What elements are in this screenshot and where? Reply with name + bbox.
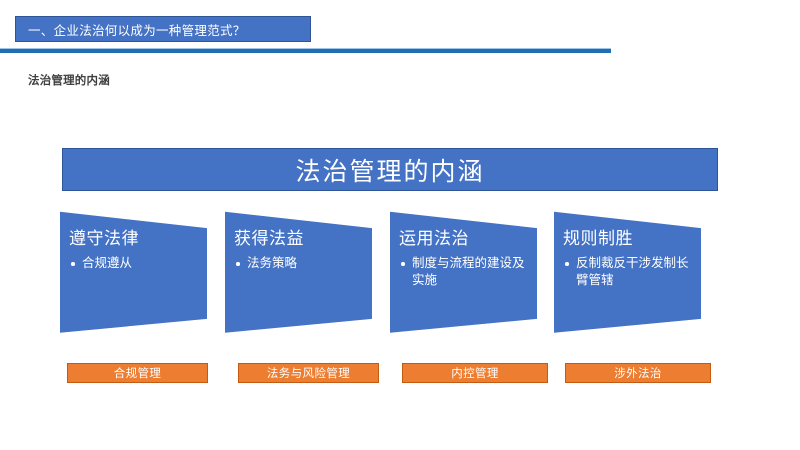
panel-heading: 遵守法律 <box>69 224 197 249</box>
header-divider-rule <box>0 48 611 53</box>
panel-content: 运用法治 制度与流程的建设及实施 <box>399 224 527 291</box>
slide-canvas: 一、企业法治何以成为一种管理范式？ 法治管理的内涵 法治管理的内涵 遵守法律 合… <box>0 0 800 450</box>
panel-content: 遵守法律 合规遵从 <box>69 224 197 274</box>
panel-compliance[interactable]: 遵守法律 合规遵从 <box>57 208 207 334</box>
panel-bullet-list: 合规遵从 <box>69 255 197 272</box>
chip-legal-risk-management[interactable]: 法务与风险管理 <box>238 363 379 383</box>
slide-subtitle: 法治管理的内涵 <box>28 72 110 88</box>
panel-content: 获得法益 法务策略 <box>234 224 362 274</box>
list-item: 制度与流程的建设及实施 <box>399 255 527 289</box>
panel-legal-benefit[interactable]: 获得法益 法务策略 <box>222 208 372 334</box>
panel-bullet-list: 法务策略 <box>234 255 362 272</box>
diagram-banner: 法治管理的内涵 <box>62 148 718 191</box>
list-item: 法务策略 <box>234 255 362 272</box>
panel-heading: 获得法益 <box>234 224 362 249</box>
panel-heading: 运用法治 <box>399 224 527 249</box>
panel-bullet-list: 反制裁反干涉发制长臂管辖 <box>563 255 691 289</box>
list-item: 合规遵从 <box>69 255 197 272</box>
panel-content: 规则制胜 反制裁反干涉发制长臂管辖 <box>563 224 691 291</box>
chip-internal-control-management[interactable]: 内控管理 <box>402 363 548 383</box>
chip-compliance-management[interactable]: 合规管理 <box>67 363 208 383</box>
chip-label: 法务与风险管理 <box>267 365 350 381</box>
panel-heading: 规则制胜 <box>563 224 691 249</box>
section-heading-tab: 一、企业法治何以成为一种管理范式？ <box>15 16 311 42</box>
chip-label: 合规管理 <box>114 365 162 381</box>
diagram-banner-title: 法治管理的内涵 <box>295 152 484 188</box>
panel-bullet-list: 制度与流程的建设及实施 <box>399 255 527 289</box>
chip-label: 涉外法治 <box>614 365 662 381</box>
chip-label: 内控管理 <box>451 365 499 381</box>
panel-rule-of-law-application[interactable]: 运用法治 制度与流程的建设及实施 <box>387 208 537 334</box>
list-item: 反制裁反干涉发制长臂管辖 <box>563 255 691 289</box>
section-heading-label: 一、企业法治何以成为一种管理范式？ <box>28 20 246 39</box>
panel-rules-win[interactable]: 规则制胜 反制裁反干涉发制长臂管辖 <box>551 208 701 334</box>
chip-foreign-related-rule-of-law[interactable]: 涉外法治 <box>565 363 711 383</box>
